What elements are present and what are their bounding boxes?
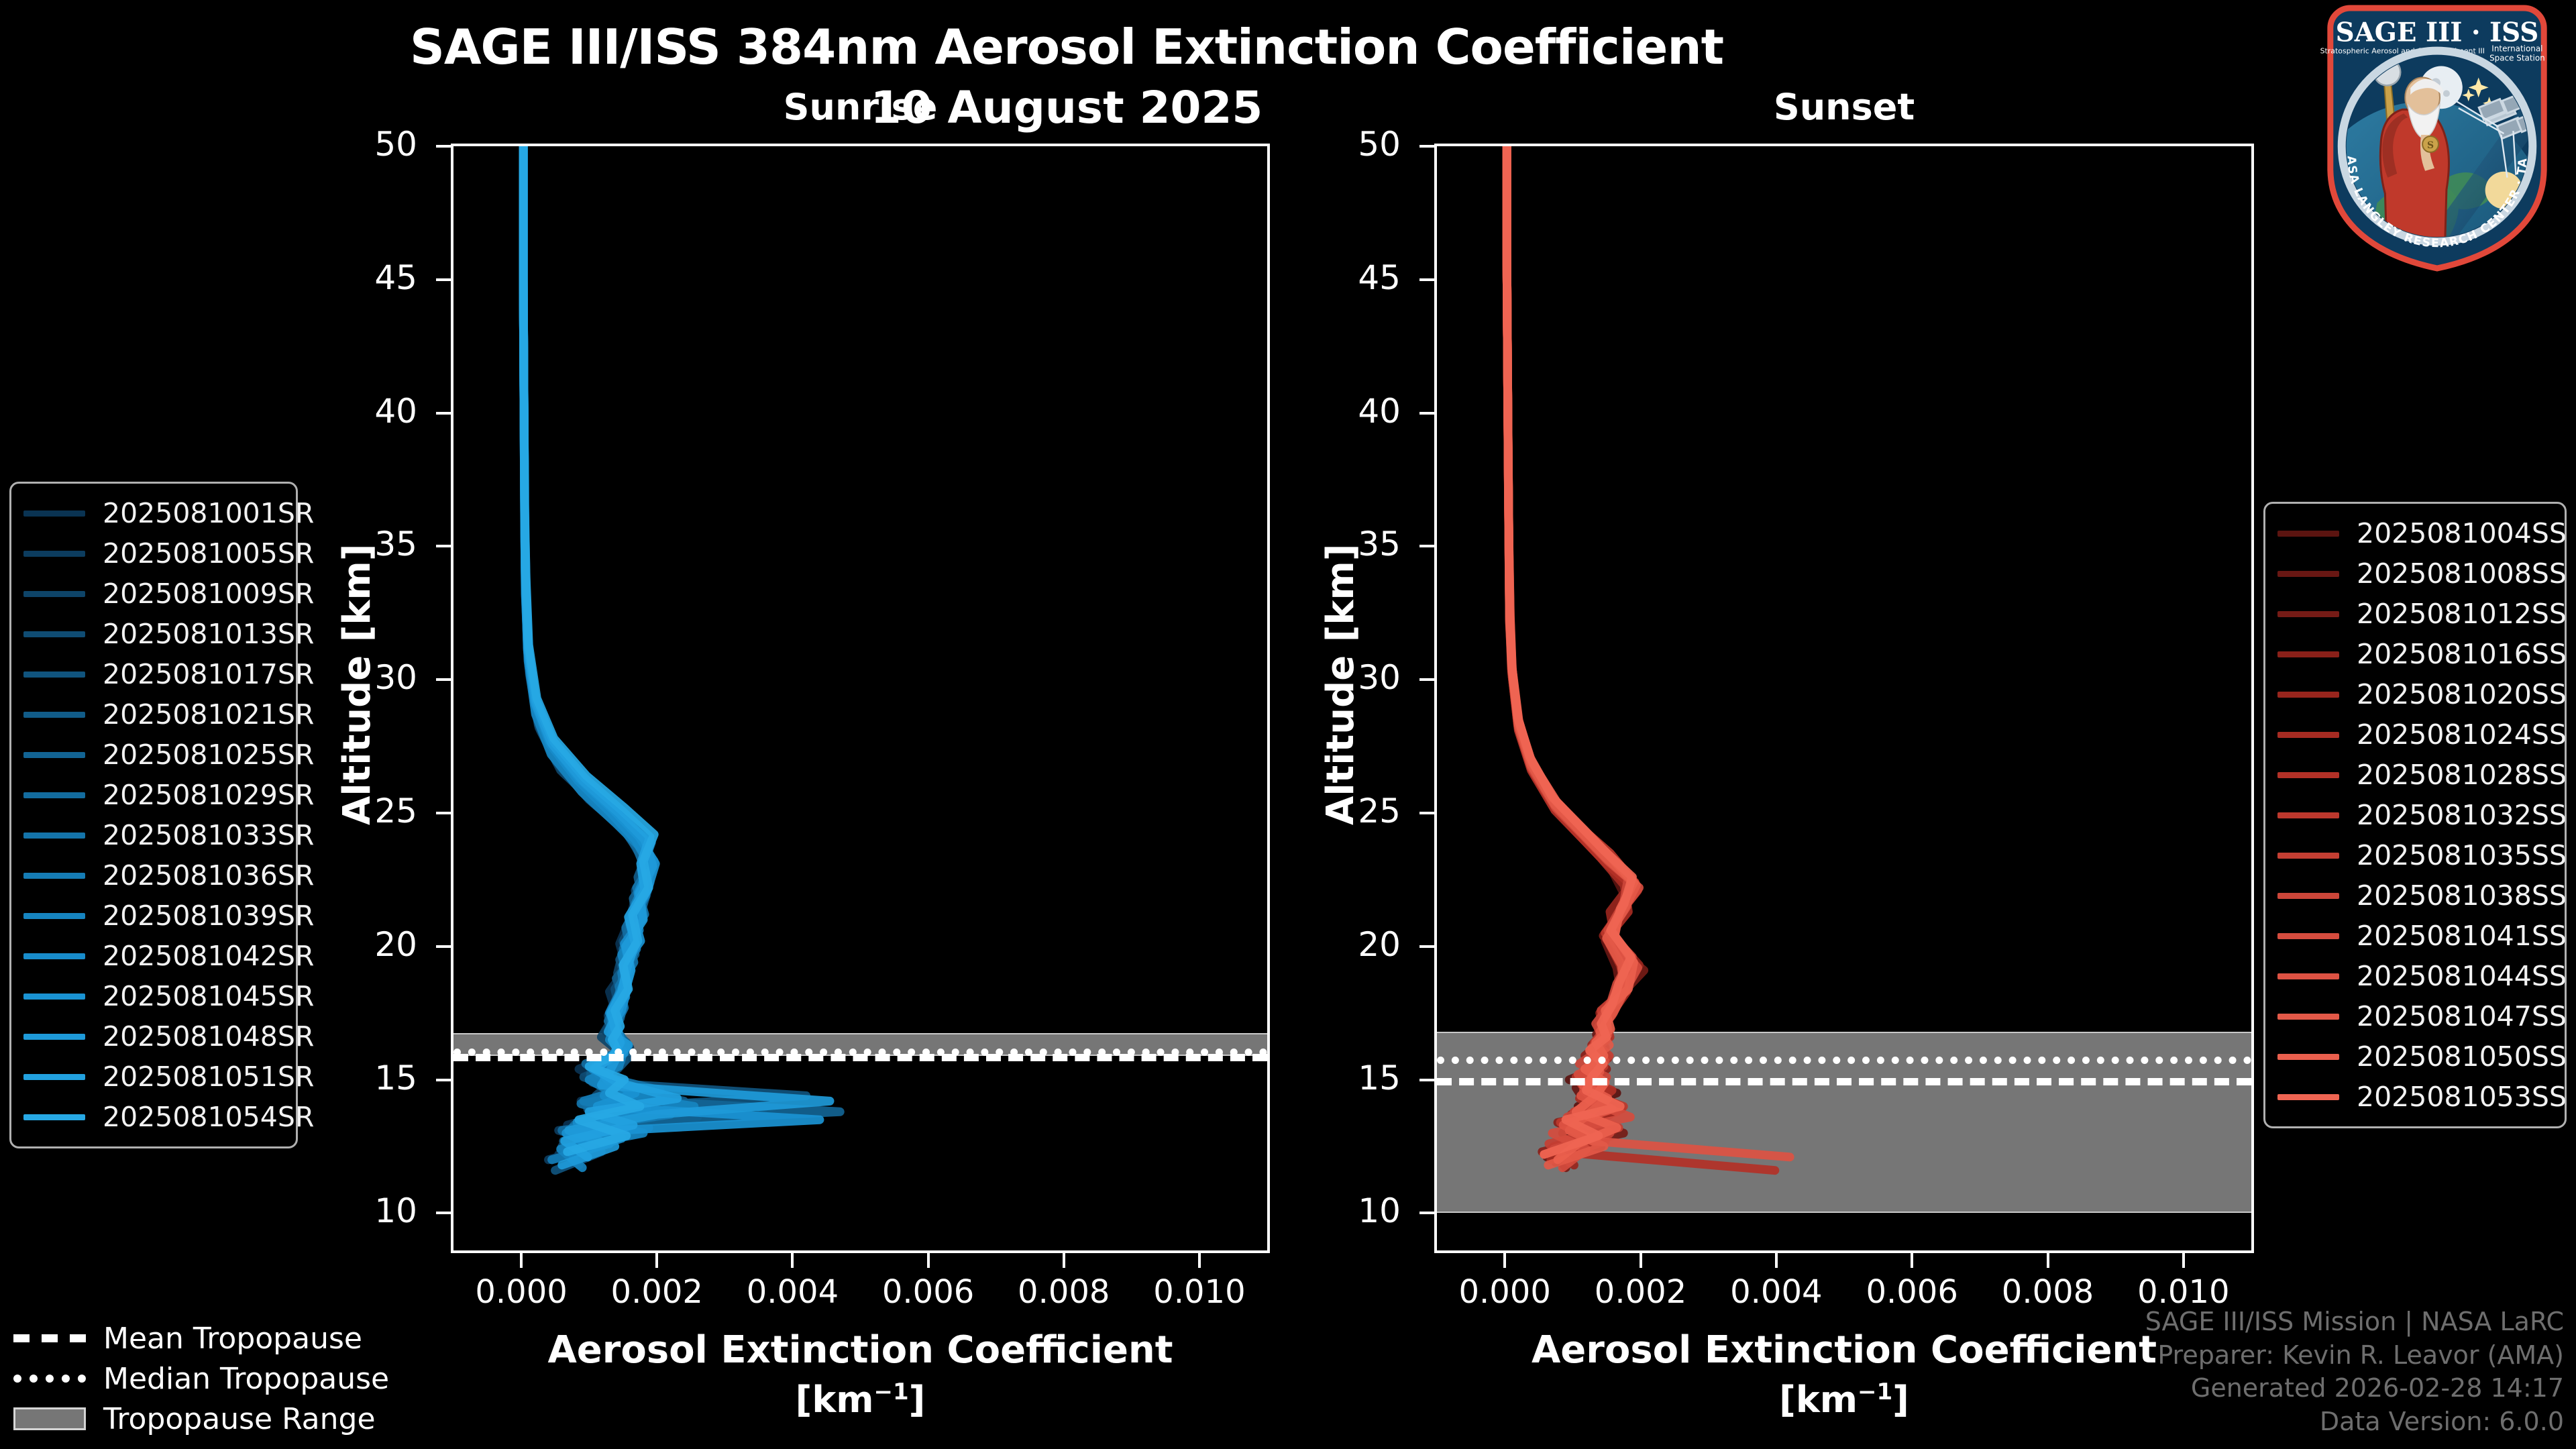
y-axis-tick	[436, 278, 451, 281]
sunset-legend-item[interactable]: 2025081050SS	[2277, 1036, 2553, 1077]
profile-line	[1507, 146, 1790, 1157]
sunset-legend-item-label: 2025081035SS	[2357, 839, 2567, 871]
profile-line	[1507, 146, 1636, 1165]
sunset-legend-item-label: 2025081016SS	[2357, 638, 2567, 670]
sunset-x-axis-unit: [km−1]	[1434, 1379, 2254, 1421]
footer-line-preparer: Preparer: Kevin R. Leavor (AMA)	[2145, 1339, 2564, 1372]
sunrise-legend-item-label: 2025081042SR	[103, 940, 314, 972]
sunrise-x-axis-label-text: Aerosol Extinction Coefficient	[547, 1328, 1173, 1372]
y-axis-tick-label: 45	[1293, 258, 1401, 297]
x-axis-tick	[1198, 1253, 1201, 1268]
x-axis-tick	[2182, 1253, 2185, 1268]
x-axis-tick	[927, 1253, 930, 1268]
profile-line	[523, 146, 653, 1163]
sage3-iss-mission-patch: SAGE III · ISS Stratospheric Aerosol and…	[2304, 3, 2571, 274]
profile-line	[1507, 146, 1775, 1171]
sunrise-legend-item[interactable]: 2025081013SR	[23, 614, 284, 654]
sunset-legend-item-label: 2025081041SS	[2357, 920, 2567, 952]
x-axis-tick	[1640, 1253, 1642, 1268]
sunset-legend-item-label: 2025081020SS	[2357, 678, 2567, 710]
footer-credits: SAGE III/ISS Mission | NASA LaRC Prepare…	[2145, 1305, 2564, 1438]
sunset-legend-item-label: 2025081032SS	[2357, 799, 2567, 831]
sunrise-plot-axes	[451, 144, 1270, 1253]
sunrise-panel-title: Sunrise	[451, 86, 1270, 128]
sunset-legend-item-swatch	[2277, 812, 2339, 818]
y-axis-tick	[436, 412, 451, 415]
sunrise-legend-item-label: 2025081054SR	[103, 1101, 314, 1133]
sunrise-legend-item-swatch	[23, 994, 85, 1000]
sunrise-legend-item[interactable]: 2025081045SR	[23, 976, 284, 1016]
profile-line	[1507, 146, 1644, 1168]
median-tropopause-line	[1437, 1057, 2251, 1064]
sunrise-plot-area	[453, 146, 1267, 1250]
sunset-legend-item-label: 2025081028SS	[2357, 759, 2567, 791]
sunrise-y-axis-label: Altitude [km]	[335, 544, 379, 825]
y-axis-tick	[436, 812, 451, 814]
sunrise-legend-item-label: 2025081025SR	[103, 739, 314, 771]
profile-line	[523, 146, 663, 1149]
y-axis-tick	[436, 678, 451, 681]
sunrise-legend-item-label: 2025081051SR	[103, 1061, 314, 1093]
sunrise-legend-item-swatch	[23, 873, 85, 879]
y-axis-tick-label: 50	[310, 125, 417, 164]
y-axis-tick-label: 15	[310, 1059, 417, 1097]
sunset-legend-item[interactable]: 2025081008SS	[2277, 553, 2553, 594]
sunset-legend-item[interactable]: 2025081024SS	[2277, 714, 2553, 755]
page-title: SAGE III/ISS 384nm Aerosol Extinction Co…	[0, 19, 2133, 75]
sunset-legend-item[interactable]: 2025081035SS	[2277, 835, 2553, 875]
sunrise-legend-item-label: 2025081021SR	[103, 698, 314, 731]
profile-line	[523, 146, 806, 1171]
sunset-legend-item-label: 2025081024SS	[2357, 718, 2567, 751]
profile-line	[1507, 146, 1639, 1168]
x-axis-tick	[520, 1253, 523, 1268]
sunrise-legend-item-swatch	[23, 551, 85, 557]
legend-item-mean-tropopause: Mean Tropopause	[13, 1318, 429, 1358]
sunset-legend-item-swatch	[2277, 1014, 2339, 1020]
y-axis-tick	[436, 145, 451, 148]
sunset-x-axis-label: Aerosol Extinction Coefficient [km−1]	[1434, 1328, 2254, 1421]
footer-line-data-version: Data Version: 6.0.0	[2145, 1405, 2564, 1438]
sunset-legend-item-label: 2025081008SS	[2357, 557, 2567, 590]
y-axis-tick	[1419, 1212, 1434, 1214]
sunset-legend-item-label: 2025081038SS	[2357, 879, 2567, 912]
sunrise-legend-item-label: 2025081036SR	[103, 859, 314, 892]
sunrise-legend-item-label: 2025081017SR	[103, 658, 314, 690]
sunset-legend-item[interactable]: 2025081053SS	[2277, 1077, 2553, 1117]
y-axis-tick-label: 45	[310, 258, 417, 297]
x-axis-tick	[791, 1253, 794, 1268]
y-axis-tick	[436, 545, 451, 547]
y-axis-tick-label: 10	[1293, 1191, 1401, 1230]
tropopause-range-swatch	[13, 1407, 86, 1430]
sunrise-legend-item-label: 2025081013SR	[103, 618, 314, 650]
figure-canvas: SAGE III/ISS 384nm Aerosol Extinction Co…	[0, 0, 2576, 1449]
legend-item-tropopause-range: Tropopause Range	[13, 1399, 429, 1439]
tropopause-range-label: Tropopause Range	[103, 1402, 376, 1436]
sunrise-legend-item[interactable]: 2025081042SR	[23, 936, 284, 976]
sunrise-legend-item[interactable]: 2025081036SR	[23, 855, 284, 896]
sunset-legend-item[interactable]: 2025081044SS	[2277, 956, 2553, 996]
profile-line	[523, 146, 670, 1160]
y-axis-tick	[1419, 678, 1434, 681]
sunrise-legend-item-swatch	[23, 1074, 85, 1080]
sunrise-legend-item[interactable]: 2025081033SR	[23, 815, 284, 855]
y-axis-tick	[436, 1212, 451, 1214]
sunset-legend-item[interactable]: 2025081032SS	[2277, 795, 2553, 835]
footer-line-generated: Generated 2026-02-28 14:17	[2145, 1372, 2564, 1405]
y-axis-tick	[436, 945, 451, 948]
sunset-legend[interactable]: 2025081004SS2025081008SS2025081012SS2025…	[2263, 502, 2567, 1128]
sunrise-legend-item[interactable]: 2025081005SR	[23, 533, 284, 574]
x-axis-tick	[1503, 1253, 1506, 1268]
sunrise-legend-item-swatch	[23, 913, 85, 919]
sunrise-legend-item-swatch	[23, 833, 85, 839]
sunrise-legend-item-swatch	[23, 631, 85, 637]
sunrise-legend-item[interactable]: 2025081039SR	[23, 896, 284, 936]
sunset-legend-item-label: 2025081012SS	[2357, 598, 2567, 630]
tropopause-legend: Mean Tropopause Median Tropopause Tropop…	[13, 1318, 429, 1439]
sunrise-legend-item-label: 2025081039SR	[103, 900, 314, 932]
mean-tropopause-label: Mean Tropopause	[103, 1322, 362, 1356]
sunset-legend-item-swatch	[2277, 853, 2339, 859]
y-axis-tick-label: 40	[1293, 392, 1401, 431]
sunrise-legend-item[interactable]: 2025081029SR	[23, 775, 284, 815]
patch-subtitle-right-1: International	[2491, 44, 2542, 54]
sunrise-legend-item[interactable]: 2025081009SR	[23, 574, 284, 614]
y-axis-tick-label: 20	[310, 925, 417, 964]
sunset-legend-item-label: 2025081050SS	[2357, 1040, 2567, 1073]
sunrise-legend-item-label: 2025081001SR	[103, 497, 314, 529]
x-axis-tick-label: 0.010	[1112, 1273, 1287, 1311]
sunrise-legend-item[interactable]: 2025081051SR	[23, 1057, 284, 1097]
profile-line	[523, 146, 684, 1157]
footer-line-mission: SAGE III/ISS Mission | NASA LaRC	[2145, 1305, 2564, 1338]
y-axis-tick	[1419, 945, 1434, 948]
sunrise-legend-item[interactable]: 2025081048SR	[23, 1016, 284, 1057]
sunset-plot-area	[1437, 146, 2251, 1250]
sunrise-legend-item[interactable]: 2025081025SR	[23, 735, 284, 775]
profile-line	[523, 146, 660, 1144]
sunset-legend-item-swatch	[2277, 973, 2339, 979]
sunset-legend-item-label: 2025081047SS	[2357, 1000, 2567, 1032]
mean-tropopause-line-swatch	[13, 1334, 86, 1342]
y-axis-tick	[1419, 412, 1434, 415]
y-axis-tick-label: 15	[1293, 1059, 1401, 1097]
profile-line	[523, 146, 840, 1152]
legend-item-median-tropopause: Median Tropopause	[13, 1358, 429, 1399]
x-axis-tick	[1911, 1253, 1913, 1268]
sunset-legend-item-swatch	[2277, 692, 2339, 698]
y-axis-tick-label: 10	[310, 1191, 417, 1230]
sunrise-x-axis-unit: [km−1]	[451, 1379, 1270, 1421]
sunset-legend-item[interactable]: 2025081041SS	[2277, 916, 2553, 956]
x-axis-tick	[2047, 1253, 2049, 1268]
sunrise-legend-item-swatch	[23, 752, 85, 758]
sunset-legend-item-swatch	[2277, 651, 2339, 657]
profile-line	[523, 146, 830, 1165]
sunrise-legend-item-swatch	[23, 672, 85, 678]
y-axis-tick-label: 20	[1293, 925, 1401, 964]
sunset-legend-item-label: 2025081044SS	[2357, 960, 2567, 992]
sunrise-legend-item-label: 2025081029SR	[103, 779, 314, 811]
y-axis-tick	[1419, 1079, 1434, 1081]
profile-line	[523, 146, 650, 1155]
sunrise-legend-item-label: 2025081045SR	[103, 980, 314, 1012]
sunrise-legend-item[interactable]: 2025081021SR	[23, 694, 284, 735]
sunset-legend-item[interactable]: 2025081016SS	[2277, 634, 2553, 674]
sunset-panel-title: Sunset	[1434, 86, 2254, 128]
sunrise-legend-item-swatch	[23, 953, 85, 959]
profile-line	[1507, 146, 1632, 1155]
profile-line	[523, 146, 650, 1155]
sunrise-legend[interactable]: 2025081001SR2025081005SR2025081009SR2025…	[9, 482, 298, 1148]
y-axis-tick-label: 40	[310, 392, 417, 431]
sunset-legend-item[interactable]: 2025081047SS	[2277, 996, 2553, 1036]
x-axis-tick	[1063, 1253, 1065, 1268]
sunrise-legend-item[interactable]: 2025081001SR	[23, 493, 284, 533]
svg-text:S: S	[2427, 140, 2434, 151]
sunrise-legend-item-label: 2025081033SR	[103, 819, 314, 851]
sunrise-x-axis-label: Aerosol Extinction Coefficient [km−1]	[451, 1328, 1270, 1421]
profile-line	[523, 146, 820, 1146]
sunrise-legend-item-swatch	[23, 1034, 85, 1040]
mean-tropopause-line	[453, 1054, 1267, 1061]
x-axis-tick	[655, 1253, 658, 1268]
sunset-legend-item-label: 2025081053SS	[2357, 1081, 2567, 1113]
sunrise-legend-item-swatch	[23, 591, 85, 597]
sunrise-legend-item-label: 2025081009SR	[103, 578, 314, 610]
sunset-legend-item-swatch	[2277, 531, 2339, 537]
sunset-legend-item-swatch	[2277, 772, 2339, 778]
patch-subtitle-right-2: Space Station	[2489, 54, 2545, 63]
y-axis-tick	[1419, 545, 1434, 547]
sunset-legend-item[interactable]: 2025081028SS	[2277, 755, 2553, 795]
sunset-legend-item-swatch	[2277, 732, 2339, 738]
sunset-y-axis-label: Altitude [km]	[1319, 544, 1362, 825]
x-axis-tick	[1775, 1253, 1778, 1268]
sunrise-profile-lines	[453, 146, 1267, 1250]
median-tropopause-label: Median Tropopause	[103, 1362, 389, 1396]
median-tropopause-line-swatch	[13, 1375, 86, 1383]
sunset-legend-item[interactable]: 2025081038SS	[2277, 875, 2553, 916]
sunrise-legend-item[interactable]: 2025081017SR	[23, 654, 284, 694]
sunset-plot-axes	[1434, 144, 2254, 1253]
sunset-legend-item-swatch	[2277, 1094, 2339, 1100]
sunset-legend-item[interactable]: 2025081012SS	[2277, 594, 2553, 634]
sunset-legend-item-swatch	[2277, 893, 2339, 899]
profile-line	[1507, 146, 1639, 1165]
sunrise-legend-item-swatch	[23, 511, 85, 517]
sunset-legend-item-swatch	[2277, 1054, 2339, 1060]
sunrise-legend-item-label: 2025081005SR	[103, 537, 314, 570]
sunrise-legend-item-label: 2025081048SR	[103, 1020, 314, 1053]
y-axis-tick	[1419, 278, 1434, 281]
mean-tropopause-line	[1437, 1078, 2251, 1085]
sunset-legend-item-swatch	[2277, 571, 2339, 577]
profile-line	[523, 146, 654, 1152]
y-axis-tick-label: 50	[1293, 125, 1401, 164]
profile-line	[523, 146, 678, 1157]
y-axis-tick	[436, 1079, 451, 1081]
y-axis-tick	[1419, 145, 1434, 148]
sunrise-legend-item-swatch	[23, 712, 85, 718]
sunrise-legend-item-swatch	[23, 792, 85, 798]
sunset-legend-item-swatch	[2277, 611, 2339, 617]
sunset-legend-item-swatch	[2277, 933, 2339, 939]
sunrise-legend-item[interactable]: 2025081054SR	[23, 1097, 284, 1137]
sunrise-legend-item-swatch	[23, 1114, 85, 1120]
sunset-legend-item[interactable]: 2025081020SS	[2277, 674, 2553, 714]
sunset-legend-item-label: 2025081004SS	[2357, 517, 2567, 549]
sunset-legend-item[interactable]: 2025081004SS	[2277, 513, 2553, 553]
y-axis-tick	[1419, 812, 1434, 814]
sunset-x-axis-label-text: Aerosol Extinction Coefficient	[1532, 1328, 2157, 1372]
